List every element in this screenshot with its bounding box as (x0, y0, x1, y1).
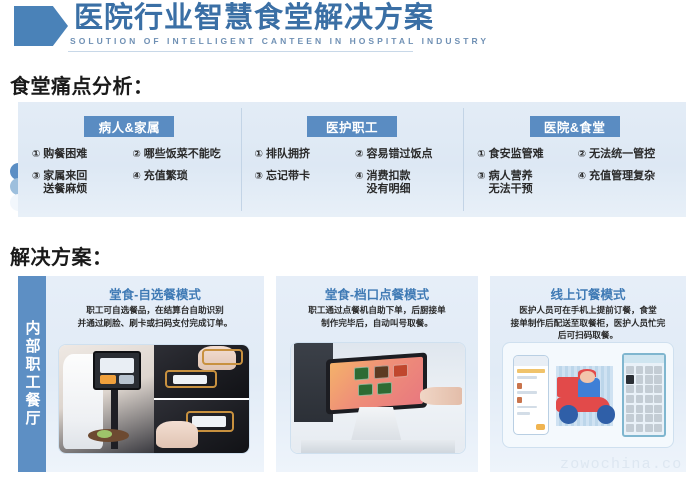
menu-item-tile (377, 382, 392, 395)
scan-card (192, 416, 226, 427)
phone-status-bar (514, 356, 548, 365)
menu-item-tile (358, 383, 373, 396)
locker-cell (645, 375, 653, 383)
pain-item-label: 家属来回 送餐麻烦 (43, 170, 87, 196)
phone-text-line (517, 376, 537, 379)
locker-cell (645, 395, 653, 403)
locker-cell-grid (626, 366, 661, 433)
locker-cell (636, 395, 644, 403)
kiosk-ui-button-orange (100, 375, 117, 384)
menu-item-tile (354, 367, 369, 380)
kiosk-scene (59, 345, 154, 453)
pain-column-hospital: 医院&食堂 ① 食安监管难 ② 无法统一管控 ③ 病人营养 无法干预 (463, 102, 686, 217)
solution-section-title: 解决方案： (10, 241, 113, 270)
locker-cell (645, 414, 653, 422)
scooter-wheel (597, 405, 616, 424)
ordering-kiosk-photo (290, 342, 466, 454)
pain-item-label: 忘记带卡 (266, 170, 310, 183)
page-subtitle: SOLUTION OF INTELLIGENT CANTEEN IN HOSPI… (70, 36, 489, 46)
phone-food-thumb (517, 397, 522, 403)
pain-item-number: ① (32, 148, 40, 161)
locker-header-panel (624, 355, 664, 363)
kiosk-touchscreen (326, 353, 427, 415)
locker-cell (636, 375, 644, 383)
online-order-locker-illustration (502, 342, 674, 448)
scooter-wheel (559, 405, 578, 424)
pain-column-patients: 病人&家属 ① 购餐困难 ② 哪些饭菜不能吃 ③ 家属来回 送餐麻烦 (18, 102, 241, 217)
staff-canteen-spine-label: 内部职工餐厅 (18, 276, 46, 472)
pain-item: ④ 消费扣款 没有明细 (355, 170, 450, 196)
phone-food-thumb (517, 383, 522, 389)
pain-item: ② 无法统一管控 (578, 148, 673, 161)
pain-item-number: ③ (32, 170, 40, 183)
rider-head (580, 371, 595, 382)
locker-cell (636, 405, 644, 413)
slide-root: 医院行业智慧食堂解决方案 SOLUTION OF INTELLIGENT CAN… (0, 0, 700, 479)
locker-cell (626, 385, 634, 393)
pain-section-title: 食堂痛点分析： (10, 70, 154, 99)
menu-item-tile (373, 366, 388, 379)
pain-item-number: ② (132, 148, 140, 161)
pain-item-label: 病人营养 无法干预 (489, 170, 533, 196)
locker-cell (626, 405, 634, 413)
spine-label-text: 内部职工餐厅 (22, 320, 43, 428)
solution-card-self-select: 内部职工餐厅 堂食-自选餐模式 职工可自选餐品，在结算台自助识别 并通过刷脸、刷… (18, 276, 264, 472)
pain-column-staff: 医护职工 ① 排队拥挤 ② 容易错过饭点 ③ 忘记带卡 ④ (241, 102, 464, 217)
menu-item-tile (393, 364, 408, 377)
locker-cell (654, 385, 662, 393)
pain-item-number: ③ (255, 170, 263, 183)
pain-badge-staff: 医护职工 (307, 116, 397, 137)
pain-item: ② 容易错过饭点 (355, 148, 450, 161)
pain-item-label: 消费扣款 没有明细 (366, 170, 410, 196)
locker-cell (626, 424, 634, 432)
phone-highlight-row (517, 369, 545, 374)
pain-item-label: 哪些饭菜不能吃 (144, 148, 221, 161)
solution-card-counter-order: 堂食-档口点餐模式 职工通过点餐机自助下单，后厨接单 制作完毕后，自动叫号取餐。 (276, 276, 478, 472)
pain-item: ④ 充值管理复杂 (578, 170, 673, 196)
arrow-accent-icon (14, 6, 68, 46)
pain-item: ① 食安监管难 (477, 148, 572, 161)
kiosk-screen (93, 351, 141, 390)
locker-cell (636, 424, 644, 432)
card-scan-closeup-bottom (154, 400, 249, 453)
pain-item: ④ 充值繁琐 (132, 170, 227, 196)
locker-cell (654, 366, 662, 374)
pickup-locker-cabinet (622, 353, 666, 436)
slide-header: 医院行业智慧食堂解决方案 SOLUTION OF INTELLIGENT CAN… (0, 0, 700, 58)
kiosk-ui-panel (100, 358, 135, 373)
pain-item: ③ 病人营养 无法干预 (477, 170, 572, 196)
solution-card-title: 堂食-自选餐模式 (46, 284, 264, 303)
watermark: zowochina.co (560, 456, 682, 473)
locker-cell (636, 366, 644, 374)
phone-text-line (517, 406, 537, 409)
locker-cell (636, 385, 644, 393)
pain-item-label: 充值管理复杂 (589, 170, 655, 183)
counter-surface (301, 440, 454, 453)
locker-cell (636, 414, 644, 422)
locker-cell (654, 375, 662, 383)
pain-item-label: 食安监管难 (489, 148, 544, 161)
pain-points-panel: 病人&家属 ① 购餐困难 ② 哪些饭菜不能吃 ③ 家属来回 送餐麻烦 (18, 102, 686, 217)
locker-cell-screen (626, 375, 634, 383)
locker-cell (626, 414, 634, 422)
phone-mockup (513, 355, 549, 434)
kiosk-ui-button-gray (119, 375, 135, 384)
solution-card-title: 线上订餐模式 (490, 284, 686, 303)
pain-badge-patients: 病人&家属 (84, 116, 174, 137)
locker-cell (645, 366, 653, 374)
pain-item-number: ① (477, 148, 485, 161)
pain-item-number: ④ (355, 170, 363, 183)
pain-item-number: ② (355, 148, 363, 161)
pain-item-number: ④ (578, 170, 586, 183)
pain-item: ① 排队拥挤 (255, 148, 350, 161)
pain-item-label: 无法统一管控 (589, 148, 655, 161)
self-select-checkout-photo (58, 344, 250, 454)
locker-cell (645, 424, 653, 432)
hand-touching-screen (420, 387, 462, 405)
locker-cell (626, 395, 634, 403)
pain-item: ③ 家属来回 送餐麻烦 (32, 170, 127, 196)
phone-text-line (517, 412, 530, 415)
locker-cell (654, 405, 662, 413)
pain-item: ② 哪些饭菜不能吃 (132, 148, 227, 161)
pain-badge-hospital: 医院&食堂 (530, 116, 620, 137)
pain-item-number: ① (255, 148, 263, 161)
solution-card-description: 医护人员可在手机上提前订餐，食堂 接单制作后配送至取餐柜，医护人员忙完 后可扫码… (500, 304, 676, 342)
pain-item: ③ 忘记带卡 (255, 170, 350, 196)
locker-cell (645, 405, 653, 413)
pain-item-label: 购餐困难 (43, 148, 87, 161)
solution-card-title: 堂食-档口点餐模式 (276, 284, 478, 303)
pain-item-number: ④ (132, 170, 140, 183)
solution-card-online-order: 线上订餐模式 医护人员可在手机上提前订餐，食堂 接单制作后配送至取餐柜，医护人员… (490, 276, 686, 472)
pain-item-number: ③ (477, 170, 485, 183)
solution-card-description: 职工通过点餐机自助下单，后厨接单 制作完毕后，自动叫号取餐。 (286, 304, 468, 329)
solution-card-description: 职工可自选餐品，在结算台自助识别 并通过刷脸、刷卡或扫码支付完成订单。 (54, 304, 256, 329)
locker-cell (654, 395, 662, 403)
locker-cell (654, 424, 662, 432)
locker-cell (626, 366, 634, 374)
pain-item-label: 容易错过饭点 (366, 148, 432, 161)
pain-item: ① 购餐困难 (32, 148, 127, 161)
scan-card (173, 375, 207, 385)
pain-item-label: 充值繁琐 (144, 170, 188, 183)
food-plate (97, 430, 112, 438)
solution-cards-row: 内部职工餐厅 堂食-自选餐模式 职工可自选餐品，在结算台自助识别 并通过刷脸、刷… (18, 276, 686, 472)
locker-cell (654, 414, 662, 422)
hand (156, 421, 198, 447)
header-divider (68, 51, 413, 52)
rfid-reader-frame (202, 349, 244, 365)
locker-cell (645, 385, 653, 393)
phone-text-line (517, 391, 537, 394)
kiosk-menu-ui (330, 357, 423, 411)
pain-item-number: ② (578, 148, 586, 161)
page-title: 医院行业智慧食堂解决方案 (74, 2, 434, 34)
phone-order-button (536, 424, 545, 429)
pain-item-label: 排队拥挤 (266, 148, 310, 161)
card-scan-closeup-top (154, 345, 249, 398)
